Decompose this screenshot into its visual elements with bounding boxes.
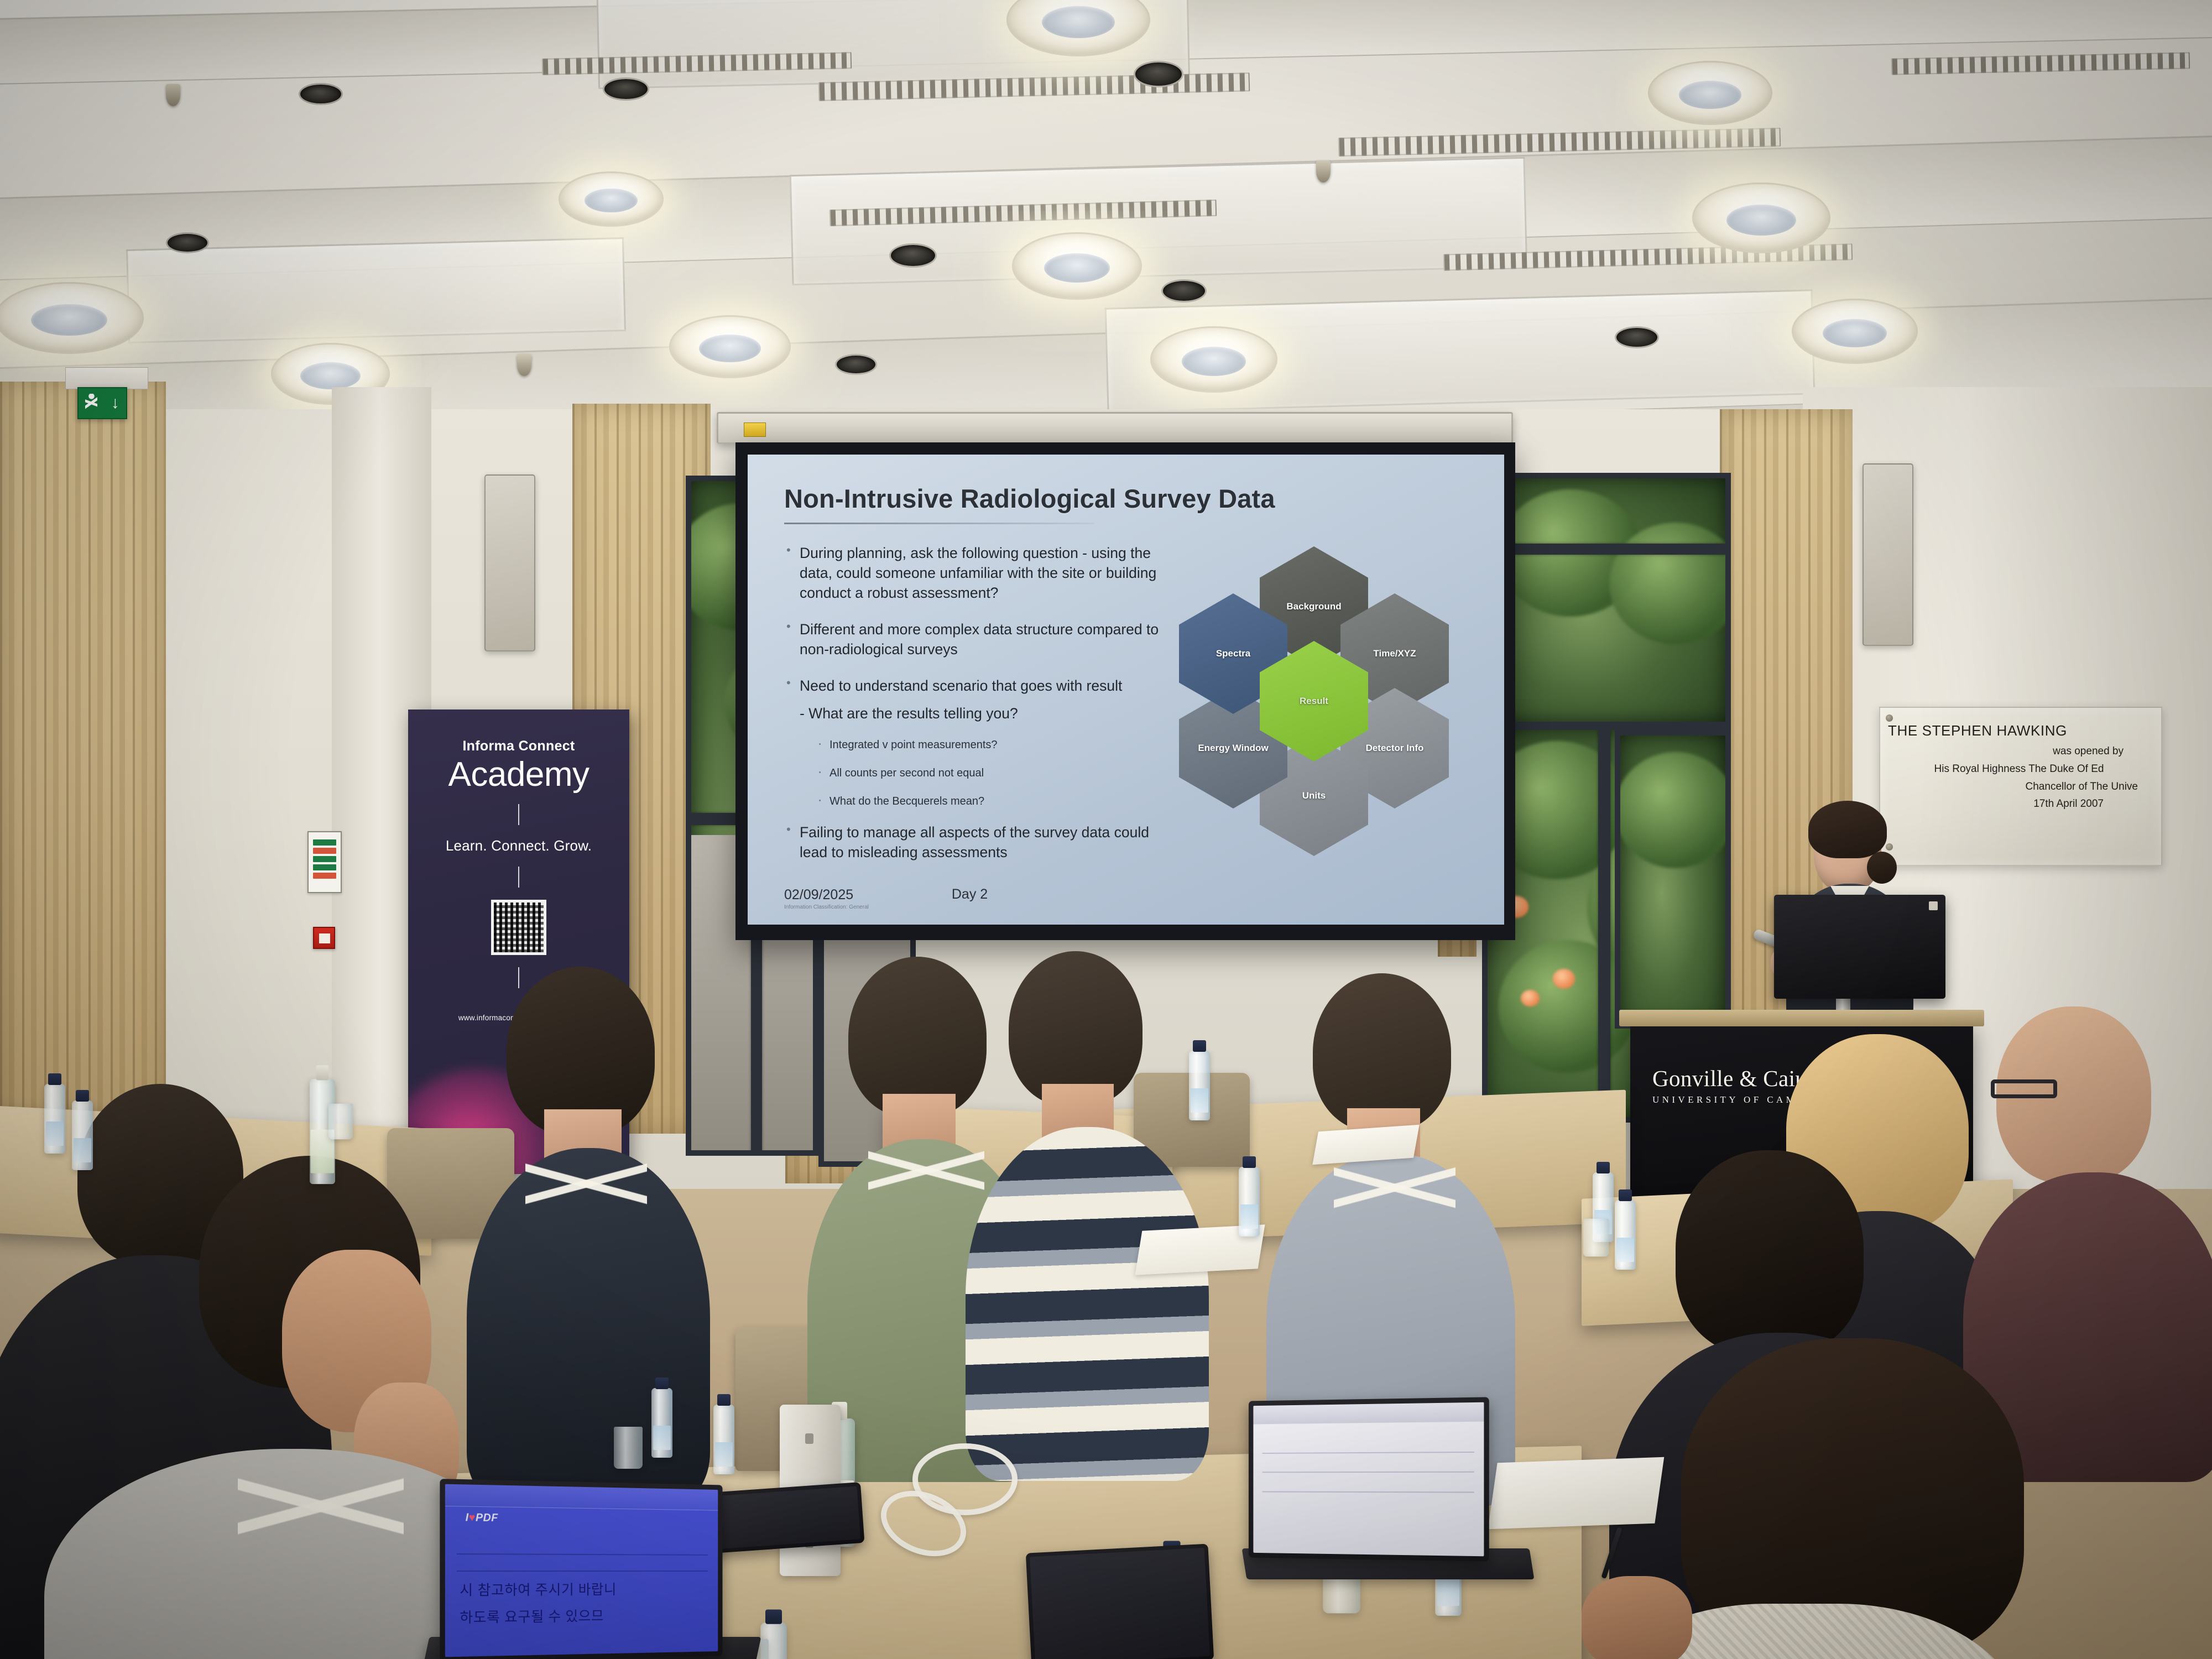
ceiling-downlight — [1648, 61, 1772, 125]
ilovepdf-logo: I♥PDF — [466, 1512, 498, 1525]
ceiling-vent — [1161, 279, 1207, 302]
plaque-line-4: Chancellor of The Unive — [1888, 781, 2150, 793]
water-bottle-plastic[interactable] — [1239, 1167, 1260, 1237]
banner-top-line: Informa Connect — [425, 738, 613, 754]
rose-flower — [1553, 969, 1575, 989]
emergency-exit-sign: ↓ — [77, 387, 127, 419]
slide-bullet-3-continuation: - What are the results telling you? — [800, 703, 1166, 723]
ceiling-downlight — [559, 171, 664, 227]
attendee-lanyard — [238, 1454, 404, 1554]
projector-screen: Non-Intrusive Radiological Survey Data D… — [735, 442, 1515, 940]
projector-screen-housing — [717, 412, 1513, 444]
presenter-hair — [1808, 801, 1887, 858]
ceiling-downlight — [1012, 232, 1142, 300]
hex-label-background: Background — [1281, 601, 1347, 612]
air-diffuser-grille — [1891, 52, 2190, 75]
ceiling-vent — [889, 243, 937, 268]
attendee-lanyard — [1334, 1152, 1455, 1220]
tablet-device[interactable] — [701, 1482, 865, 1554]
slide-bullet-list: During planning, ask the following quest… — [784, 543, 1166, 879]
ceiling-vent — [603, 77, 649, 101]
heart-icon: ♥ — [469, 1512, 476, 1524]
conference-room-photo: ↓ THE STEPHEN HAWKING was opened by His … — [0, 0, 2212, 1659]
running-man-icon — [85, 394, 97, 413]
sprinkler-head — [517, 354, 531, 376]
slide-bullet-2: Different and more complex data structur… — [784, 619, 1166, 659]
slide-bullet-3: Need to understand scenario that goes wi… — [784, 676, 1166, 696]
stephen-hawking-plaque: THE STEPHEN HAWKING was opened by His Ro… — [1879, 707, 2162, 866]
water-bottle-plastic[interactable] — [651, 1388, 672, 1458]
ceiling-vent — [166, 232, 209, 253]
drinking-glass[interactable] — [328, 1104, 353, 1140]
ceiling-downlight — [1692, 182, 1830, 253]
water-bottle-plastic[interactable] — [713, 1405, 734, 1474]
equipment-sticker — [744, 422, 766, 437]
down-arrow-icon: ↓ — [111, 395, 119, 411]
projected-slide: Non-Intrusive Radiological Survey Data D… — [748, 455, 1504, 925]
exit-sign-bracket — [65, 367, 148, 389]
qr-code-icon[interactable] — [491, 900, 546, 955]
attendee-lanyard — [525, 1149, 647, 1215]
plaque-line-2: was opened by — [1888, 745, 2150, 758]
banner-divider-bottom — [518, 967, 519, 988]
ceiling-panel — [126, 237, 626, 343]
slide-sub-bullet-3: What do the Becquerels mean? — [815, 794, 1166, 809]
ceiling-downlight — [669, 315, 791, 378]
slide-bullet-final: Failing to manage all aspects of the sur… — [784, 822, 1166, 862]
presenter-monitor — [1774, 895, 1945, 999]
laptop[interactable]: I♥PDF 시 참고하여 주시기 바랍니 하도록 요구될 수 있으므 — [440, 1479, 722, 1659]
window-right-upper — [1488, 473, 1731, 727]
hex-label-detector-info: Detector Info — [1360, 743, 1430, 753]
hex-label-timexyz: Time/XYZ — [1368, 648, 1421, 659]
laptop-right[interactable] — [1249, 1397, 1489, 1561]
hex-label-energy-window: Energy Window — [1192, 743, 1274, 753]
glasses-icon — [1991, 1079, 2057, 1098]
wall-speaker-right — [1863, 463, 1913, 646]
lectern-top-surface — [1619, 1010, 1984, 1026]
notepad-foreground — [1488, 1457, 1665, 1529]
laptop-display: I♥PDF 시 참고하여 주시기 바랍니 하도록 요구될 수 있으므 — [445, 1484, 718, 1657]
hexagon-diagram: Background Time/XYZ Detector Info Units — [1179, 546, 1450, 856]
drinking-glass[interactable] — [1583, 1219, 1609, 1256]
slide-title-rule — [784, 523, 1094, 524]
ceiling-vent — [1615, 326, 1659, 348]
laptop-korean-line-2: 하도록 요구될 수 있으므 — [460, 1605, 604, 1627]
plaque-line-3: His Royal Highness The Duke Of Ed — [1888, 763, 2150, 775]
slide-footer-day: Day 2 — [952, 886, 988, 910]
water-bottle-plastic[interactable] — [1189, 1051, 1210, 1120]
ceiling-vent — [1134, 61, 1183, 87]
plaque-line-5: 17th April 2007 — [1888, 798, 2150, 810]
ceiling-downlight — [0, 282, 144, 354]
rose-flower — [1521, 990, 1540, 1006]
attendee-torso-striped — [966, 1127, 1209, 1481]
slide-footer-date: 02/09/2025 — [784, 887, 869, 903]
curtain-far-left — [0, 382, 166, 1172]
laptop-display-right — [1253, 1402, 1484, 1557]
slide-sub-bullet-2: All counts per second not equal — [815, 766, 1166, 781]
tablet-device-foreground[interactable] — [1026, 1544, 1214, 1659]
ceiling — [0, 0, 2212, 437]
monitor-badge-icon — [1929, 901, 1938, 910]
water-bottle-plastic[interactable] — [1615, 1200, 1636, 1270]
slide-bullet-1: During planning, ask the following quest… — [784, 543, 1166, 603]
window-far-right — [1615, 730, 1731, 1029]
banner-tagline: Learn. Connect. Grow. — [425, 837, 613, 854]
hex-label-spectra: Spectra — [1211, 648, 1256, 659]
slide-sub-bullet-1: Integrated v point measurements? — [815, 738, 1166, 753]
plaque-line-1: THE STEPHEN HAWKING — [1888, 722, 2150, 739]
attendee-hair — [848, 957, 987, 1117]
fire-alarm-call-point[interactable] — [313, 927, 335, 949]
ceiling-vent — [299, 83, 343, 105]
slide-title: Non-Intrusive Radiological Survey Data — [784, 483, 1471, 514]
browser-chrome — [445, 1484, 718, 1511]
hex-label-result: Result — [1294, 696, 1334, 706]
slide-classification: Information Classification: General — [784, 904, 869, 910]
ceiling-downlight — [1150, 326, 1277, 393]
wall-speaker-left — [484, 474, 535, 651]
presenter-hair-bun — [1867, 852, 1897, 884]
drinking-glass[interactable] — [614, 1427, 643, 1469]
attendee-hand — [1582, 1576, 1692, 1659]
ceiling-downlight — [1792, 299, 1918, 364]
sprinkler-head — [166, 84, 180, 106]
attendee-hair — [1009, 951, 1142, 1106]
banner-headline: Academy — [425, 758, 613, 792]
fire-action-notice — [307, 831, 342, 893]
sprinkler-head — [1316, 160, 1331, 182]
laptop-korean-line-1: 시 참고하여 주시기 바랍니 — [460, 1579, 617, 1600]
banner-divider-mid — [518, 867, 519, 888]
ceiling-vent — [835, 354, 877, 375]
hex-label-units: Units — [1297, 790, 1332, 801]
water-bottle-plastic[interactable] — [44, 1084, 65, 1154]
water-bottle-plastic[interactable] — [72, 1100, 93, 1170]
banner-divider-top — [518, 804, 519, 825]
attendee-lanyard — [868, 1137, 984, 1201]
attendee-hair — [1676, 1150, 1864, 1355]
